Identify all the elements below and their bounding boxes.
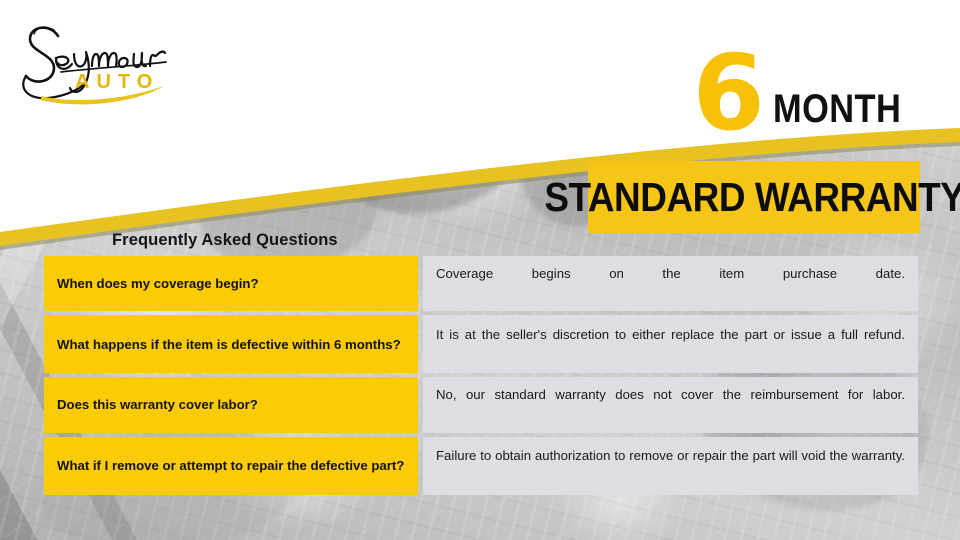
faq-answer-text: It is at the seller's discretion to eith…	[436, 326, 905, 363]
table-row: What happens if the item is defective wi…	[44, 315, 918, 373]
warranty-unit-label: MONTH	[773, 89, 901, 135]
table-row: What if I remove or attempt to repair th…	[44, 437, 918, 495]
table-row: Does this warranty cover labor? No, our …	[44, 377, 918, 432]
standard-warranty-label: STANDARD WARRANTY	[544, 174, 960, 221]
faq-answer-text: Failure to obtain authorization to remov…	[436, 447, 905, 484]
warranty-number: 6	[692, 52, 762, 135]
svg-text:AUTO: AUTO	[75, 71, 159, 93]
warranty-slide: AUTO 6 MONTH STANDARD WARRANTY Frequentl…	[0, 0, 960, 540]
seymour-auto-logo: AUTO	[14, 14, 204, 106]
faq-answer-text: Coverage begins on the item purchase dat…	[436, 265, 905, 302]
warranty-duration-badge: 6 MONTH	[692, 52, 922, 135]
faq-question-cell: What happens if the item is defective wi…	[44, 315, 418, 373]
faq-answer-cell: It is at the seller's discretion to eith…	[423, 315, 918, 373]
table-row: When does my coverage begin? Coverage be…	[44, 256, 918, 311]
faq-question-cell: When does my coverage begin?	[44, 256, 418, 311]
standard-warranty-banner: STANDARD WARRANTY	[588, 161, 920, 233]
faq-heading: Frequently Asked Questions	[112, 231, 338, 250]
faq-question-cell: What if I remove or attempt to repair th…	[44, 437, 418, 495]
faq-question-cell: Does this warranty cover labor?	[44, 377, 418, 432]
faq-answer-cell: Coverage begins on the item purchase dat…	[423, 256, 918, 311]
faq-answer-cell: No, our standard warranty does not cover…	[423, 377, 918, 432]
faq-answer-text: No, our standard warranty does not cover…	[436, 386, 905, 423]
faq-table: When does my coverage begin? Coverage be…	[44, 256, 918, 495]
faq-answer-cell: Failure to obtain authorization to remov…	[423, 437, 918, 495]
